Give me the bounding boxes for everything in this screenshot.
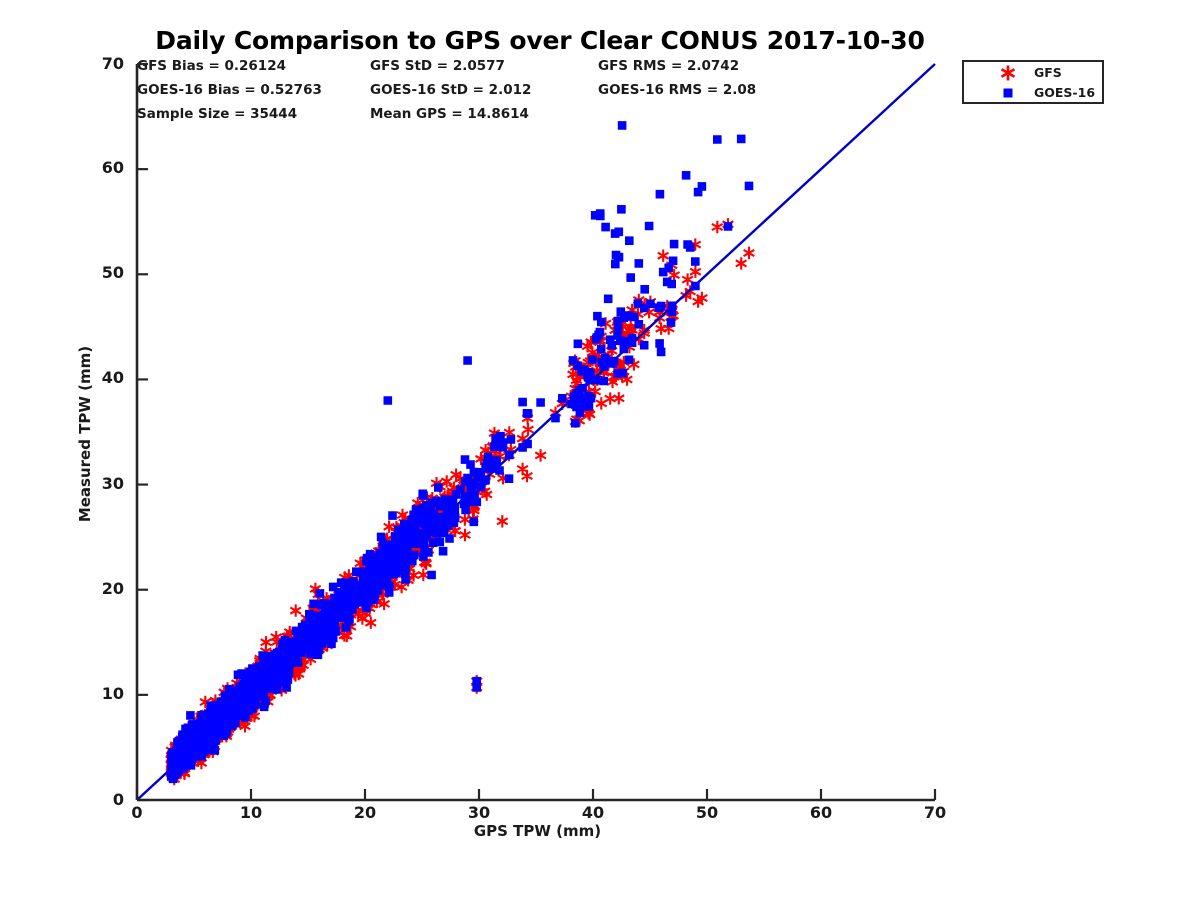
y-tick-30: 30 <box>78 474 124 494</box>
legend-label-goes16: GOES-16 <box>1034 83 1095 103</box>
asterisk-icon <box>994 63 1022 83</box>
x-tick-30: 30 <box>449 803 509 822</box>
legend-item-gfs[interactable]: GFS <box>964 63 1106 83</box>
scatter-plot <box>0 0 1200 900</box>
figure-canvas: Daily Comparison to GPS over Clear CONUS… <box>0 0 1200 900</box>
x-tick-40: 40 <box>563 803 623 822</box>
legend-item-goes16[interactable]: GOES-16 <box>964 83 1106 103</box>
y-tick-60: 60 <box>78 158 124 178</box>
x-tick-70: 70 <box>905 803 965 822</box>
square-icon <box>994 83 1022 103</box>
x-tick-10: 10 <box>221 803 281 822</box>
x-axis-label: GPS TPW (mm) <box>0 822 1075 840</box>
y-tick-40: 40 <box>78 368 124 388</box>
y-tick-10: 10 <box>78 684 124 704</box>
x-tick-60: 60 <box>791 803 851 822</box>
y-tick-70: 70 <box>78 54 124 74</box>
x-tick-50: 50 <box>677 803 737 822</box>
y-axis-label: Measured TPW (mm) <box>76 334 94 534</box>
series-goes16 <box>167 121 753 783</box>
x-tick-20: 20 <box>335 803 395 822</box>
y-tick-20: 20 <box>78 579 124 599</box>
y-tick-0: 0 <box>78 790 124 810</box>
y-tick-50: 50 <box>78 263 124 283</box>
legend[interactable]: GFS GOES-16 <box>962 60 1104 104</box>
legend-label-gfs: GFS <box>1034 63 1062 83</box>
